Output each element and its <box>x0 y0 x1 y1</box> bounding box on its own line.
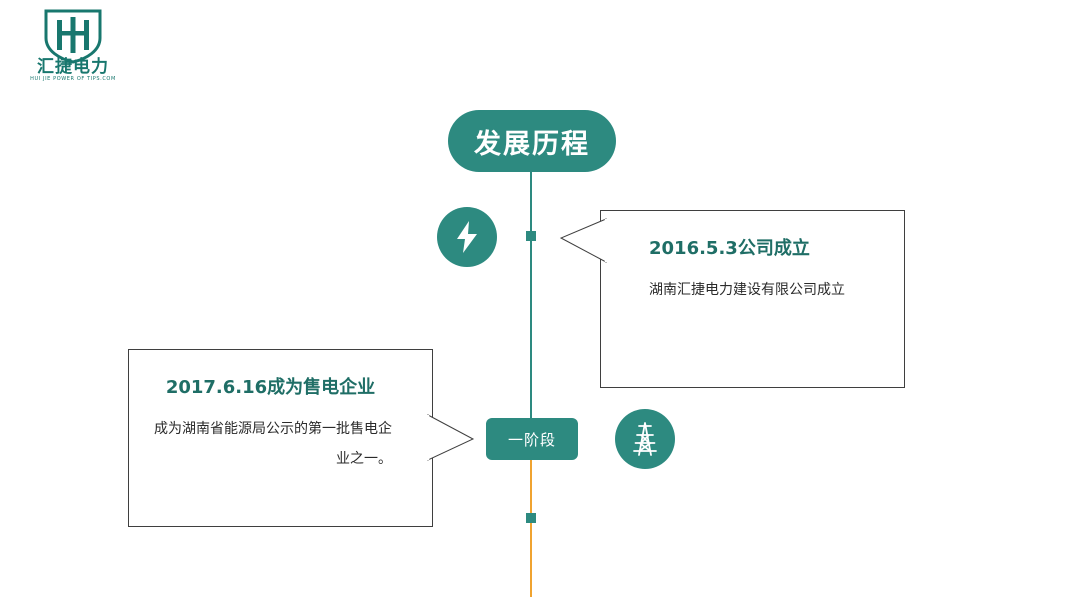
shield-logo-icon <box>42 8 104 64</box>
company-logo: 汇捷电力 HUI JIE POWER OF TIPS.COM <box>30 8 116 86</box>
callout-2016: 2016.5.3公司成立 湖南汇捷电力建设有限公司成立 <box>600 210 905 388</box>
stage-marker: 一阶段 <box>486 418 578 460</box>
timeline-axis-lower <box>530 460 532 597</box>
callout-2017: 2017.6.16成为售电企业 成为湖南省能源局公示的第一批售电企业之一。 <box>128 349 433 527</box>
callout-2017-body: 成为湖南省能源局公示的第一批售电企业之一。 <box>149 414 392 474</box>
power-tower-glyph <box>630 422 660 456</box>
page-title: 发展历程 <box>448 110 616 172</box>
callout-2016-title: 2016.5.3公司成立 <box>649 237 882 261</box>
callout-2016-tail <box>560 218 606 268</box>
timeline-node-icon <box>526 513 536 523</box>
logo-name-cn: 汇捷电力 <box>30 58 116 77</box>
power-tower-icon <box>615 409 675 469</box>
lightning-bolt-glyph <box>454 220 480 254</box>
logo-name-en: HUI JIE POWER OF TIPS.COM <box>30 76 116 82</box>
timeline-node-icon <box>526 231 536 241</box>
slide-canvas: 汇捷电力 HUI JIE POWER OF TIPS.COM 发展历程 一阶段 … <box>0 0 1069 597</box>
timeline-axis-upper <box>530 172 532 418</box>
lightning-bolt-icon <box>437 207 497 267</box>
callout-2017-tail <box>428 414 474 464</box>
callout-2017-title: 2017.6.16成为售电企业 <box>149 376 392 400</box>
callout-2016-body: 湖南汇捷电力建设有限公司成立 <box>649 275 882 305</box>
